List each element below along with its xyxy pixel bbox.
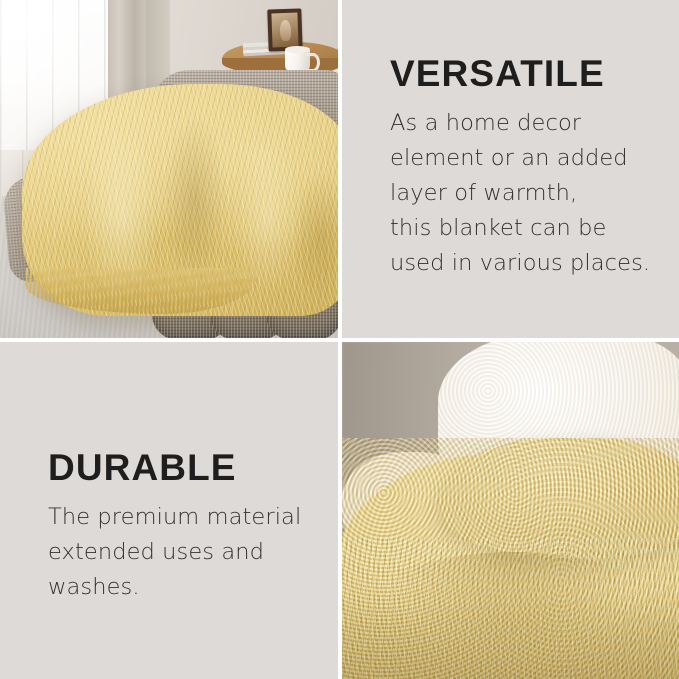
versatile-body-line-2: element or an added xyxy=(390,141,665,176)
window-glow xyxy=(0,0,100,120)
versatile-body-line-4: this blanket can be xyxy=(390,211,665,246)
photo-blanket-closeup xyxy=(342,342,679,679)
picture-frame-photo xyxy=(271,13,298,48)
durable-body-line-2: extended uses and xyxy=(48,535,318,570)
photo-bedroom-scene xyxy=(0,0,338,338)
durable-body-line-3: washes. xyxy=(48,570,318,605)
durable-text-block: DURABLE The premium material extended us… xyxy=(48,449,318,605)
versatile-body-line-1: As a home decor xyxy=(390,106,665,141)
infographic-board: VERSATILE As a home decor element or an … xyxy=(0,0,679,679)
versatile-text-block: VERSATILE As a home decor element or an … xyxy=(390,55,665,281)
picture-frame-figure xyxy=(279,20,291,41)
white-mug-rim xyxy=(285,46,310,53)
durable-body-line-1: The premium material xyxy=(48,500,318,535)
versatile-body: As a home decor element or an added laye… xyxy=(390,106,665,281)
durable-heading: DURABLE xyxy=(48,449,318,486)
panel-durable: DURABLE The premium material extended us… xyxy=(0,342,338,679)
lower-shadow xyxy=(342,592,679,679)
versatile-body-line-5: used in various places. xyxy=(390,246,665,281)
panel-versatile-background: VERSATILE As a home decor element or an … xyxy=(342,0,679,338)
panel-versatile: VERSATILE As a home decor element or an … xyxy=(342,0,679,338)
durable-body: The premium material extended uses and w… xyxy=(48,500,318,605)
bedroom-photo-canvas xyxy=(0,0,338,338)
panel-durable-background: DURABLE The premium material extended us… xyxy=(0,342,338,679)
versatile-heading: VERSATILE xyxy=(390,55,665,92)
versatile-body-line-3: layer of warmth, xyxy=(390,176,665,211)
closeup-photo-canvas xyxy=(342,342,679,679)
